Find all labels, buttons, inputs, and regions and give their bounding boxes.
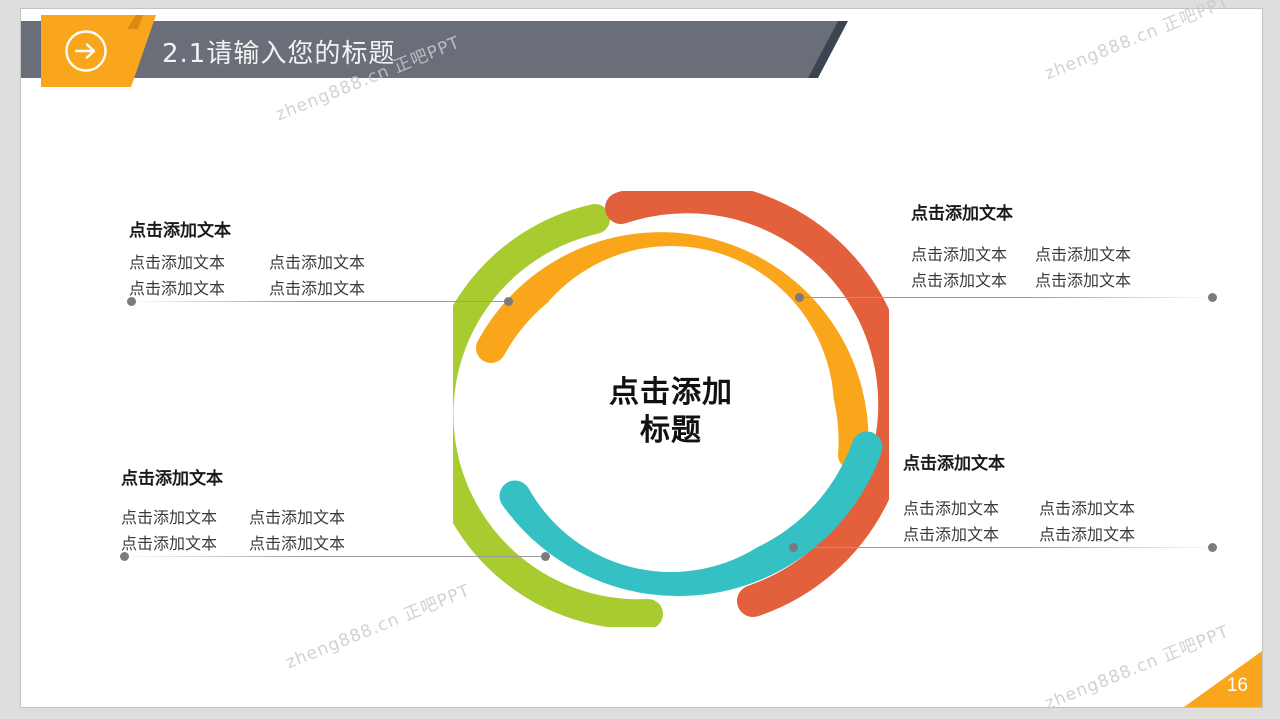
ring-center-title-line2: 标题: [453, 412, 889, 450]
text-line: 点击添加文本: [249, 505, 345, 531]
text-block-heading: 点击添加文本: [129, 216, 365, 241]
text-line: 点击添加文本: [1035, 242, 1131, 268]
ring-center-title-line1: 点击添加: [453, 374, 889, 412]
text-block-column-2: 点击添加文本 点击添加文本: [1035, 242, 1131, 293]
text-line: 点击添加文本: [129, 276, 225, 302]
text-line: 点击添加文本: [911, 242, 1007, 268]
text-block-top-left[interactable]: 点击添加文本 点击添加文本 点击添加文本 点击添加文本 点击添加文本: [129, 216, 365, 301]
text-block-columns: 点击添加文本 点击添加文本 点击添加文本 点击添加文本: [903, 496, 1135, 547]
text-block-heading: 点击添加文本: [121, 464, 345, 489]
text-block-bottom-right[interactable]: 点击添加文本 点击添加文本 点击添加文本 点击添加文本 点击添加文本: [903, 449, 1135, 547]
text-block-columns: 点击添加文本 点击添加文本 点击添加文本 点击添加文本: [911, 242, 1131, 293]
slide-root: 2.1请输入您的标题: [0, 0, 1280, 719]
text-block-column-2: 点击添加文本 点击添加文本: [1039, 496, 1135, 547]
ring-center-title: 点击添加 标题: [453, 374, 889, 449]
text-block-column-1: 点击添加文本 点击添加文本: [121, 505, 217, 556]
connector-dot-inner: [541, 552, 550, 561]
text-block-bottom-left[interactable]: 点击添加文本 点击添加文本 点击添加文本 点击添加文本 点击添加文本: [121, 464, 345, 556]
text-block-column-2: 点击添加文本 点击添加文本: [269, 250, 365, 301]
text-block-top-right[interactable]: 点击添加文本 点击添加文本 点击添加文本 点击添加文本 点击添加文本: [911, 199, 1131, 293]
text-block-column-1: 点击添加文本 点击添加文本: [911, 242, 1007, 293]
text-block-column-1: 点击添加文本 点击添加文本: [903, 496, 999, 547]
connector-line: [795, 297, 1217, 298]
page-number-corner: [1184, 651, 1262, 707]
text-line: 点击添加文本: [903, 496, 999, 522]
slide-canvas: 2.1请输入您的标题: [20, 8, 1263, 708]
page-number: 16: [1227, 675, 1248, 697]
text-line: 点击添加文本: [121, 505, 217, 531]
text-block-columns: 点击添加文本 点击添加文本 点击添加文本 点击添加文本: [121, 505, 345, 556]
text-line: 点击添加文本: [249, 531, 345, 557]
text-block-heading: 点击添加文本: [911, 199, 1131, 224]
connector-dot-outer: [1208, 293, 1217, 302]
text-line: 点击添加文本: [1039, 496, 1135, 522]
text-line: 点击添加文本: [1035, 268, 1131, 294]
text-line: 点击添加文本: [269, 250, 365, 276]
text-line: 点击添加文本: [903, 522, 999, 548]
text-line: 点击添加文本: [129, 250, 225, 276]
connector-dot-inner: [795, 293, 804, 302]
text-line: 点击添加文本: [911, 268, 1007, 294]
text-block-column-2: 点击添加文本 点击添加文本: [249, 505, 345, 556]
text-line: 点击添加文本: [1039, 522, 1135, 548]
connector-dot-inner: [504, 297, 513, 306]
connector-top-right: [795, 293, 1217, 302]
connector-dot-outer: [1208, 543, 1217, 552]
watermark: zheng888.cn 正吧PPT: [281, 576, 473, 673]
arrow-right-circle-icon: [64, 29, 108, 73]
text-block-column-1: 点击添加文本 点击添加文本: [129, 250, 225, 301]
page-title: 2.1请输入您的标题: [162, 33, 395, 70]
text-line: 点击添加文本: [121, 531, 217, 557]
text-block-columns: 点击添加文本 点击添加文本 点击添加文本 点击添加文本: [129, 250, 365, 301]
text-block-heading: 点击添加文本: [903, 449, 1135, 474]
connector-dot-inner: [789, 543, 798, 552]
text-line: 点击添加文本: [269, 276, 365, 302]
